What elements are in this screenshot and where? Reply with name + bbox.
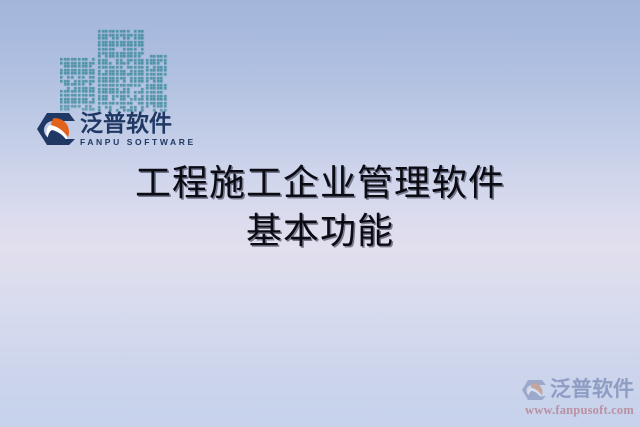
watermark-url: www.fanpusoft.com [490,404,634,417]
brand-logo-en: FANPU SOFTWARE [80,138,196,147]
pixel-skyline-canvas [60,22,168,114]
brand-logo: 泛普软件 FANPU SOFTWARE [36,110,196,148]
slide-canvas: 泛普软件 FANPU SOFTWARE 工程施工企业管理软件 基本功能 泛普软件… [0,0,640,427]
watermark: 泛普软件 www.fanpusoft.com [490,379,634,417]
fanpu-logo-mark-icon [36,112,76,146]
brand-logo-text: 泛普软件 FANPU SOFTWARE [80,112,196,147]
page-title-line-2: 基本功能 [0,208,640,256]
page-title: 工程施工企业管理软件 基本功能 [0,160,640,255]
pixel-skyline-graphic [60,22,168,114]
watermark-logo-mark-icon [521,379,547,401]
watermark-brand-row: 泛普软件 [490,379,634,401]
watermark-cn-text: 泛普软件 [550,379,634,400]
brand-logo-cn: 泛普软件 [80,112,196,136]
page-title-line-1: 工程施工企业管理软件 [0,160,640,208]
